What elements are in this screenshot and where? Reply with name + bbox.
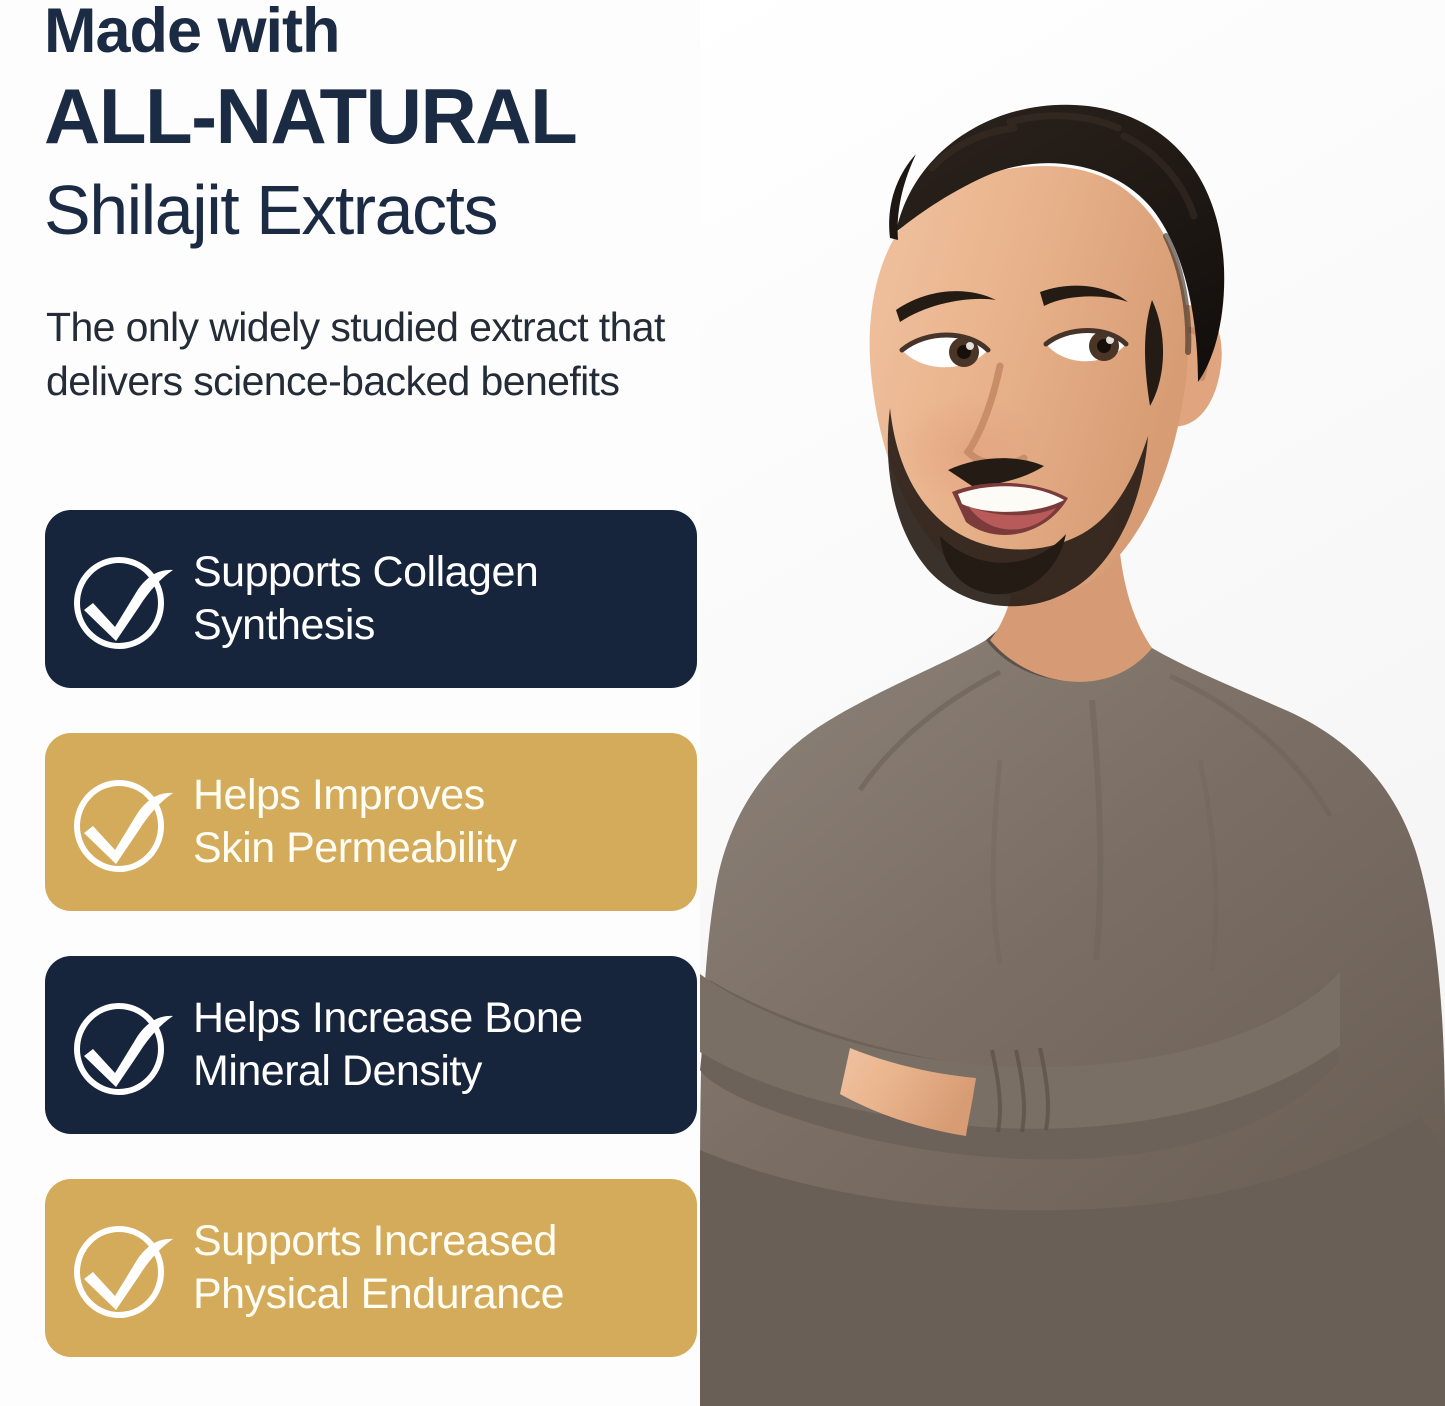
sweater (700, 628, 1445, 1406)
headline-line-3: Shilajit Extracts (44, 164, 884, 256)
subheadline: The only widely studied extract that del… (46, 300, 876, 408)
promo-infographic: Made with ALL-NATURAL Shilajit Extracts … (0, 0, 1445, 1406)
benefit-pill-supports-collagen-synthesis: Supports Collagen Synthesis (45, 510, 697, 688)
subheadline-line-1: The only widely studied extract that (46, 300, 876, 354)
benefit-label: Helps Increase Bone Mineral Density (193, 992, 583, 1098)
benefit-label-line-2: Mineral Density (193, 1045, 583, 1098)
benefit-label: Helps Improves Skin Permeability (193, 769, 517, 875)
benefit-label: Supports Collagen Synthesis (193, 546, 538, 652)
headline-line-2: ALL-NATURAL (44, 68, 884, 164)
check-circle-icon (67, 1214, 183, 1322)
benefit-label-line-2: Synthesis (193, 599, 538, 652)
benefit-label: Supports Increased Physical Endurance (193, 1215, 564, 1321)
benefit-pill-supports-increased-physical-endurance: Supports Increased Physical Endurance (45, 1179, 697, 1357)
subheadline-line-2: delivers science-backed benefits (46, 354, 876, 408)
benefit-pill-helps-increase-bone-mineral-density: Helps Increase Bone Mineral Density (45, 956, 697, 1134)
benefit-label-line-2: Physical Endurance (193, 1268, 564, 1321)
check-circle-icon (67, 991, 183, 1099)
benefit-label-line-1: Helps Increase Bone (193, 992, 583, 1045)
benefit-label-line-1: Supports Increased (193, 1215, 564, 1268)
benefit-label-line-1: Supports Collagen (193, 546, 538, 599)
benefit-label-line-1: Helps Improves (193, 769, 517, 822)
benefit-label-line-2: Skin Permeability (193, 822, 517, 875)
benefit-pill-helps-improves-skin-permeability: Helps Improves Skin Permeability (45, 733, 697, 911)
check-circle-icon (67, 768, 183, 876)
headline-line-1: Made with (44, 0, 884, 68)
headline: Made with ALL-NATURAL Shilajit Extracts (44, 0, 884, 256)
check-circle-icon (67, 545, 183, 653)
